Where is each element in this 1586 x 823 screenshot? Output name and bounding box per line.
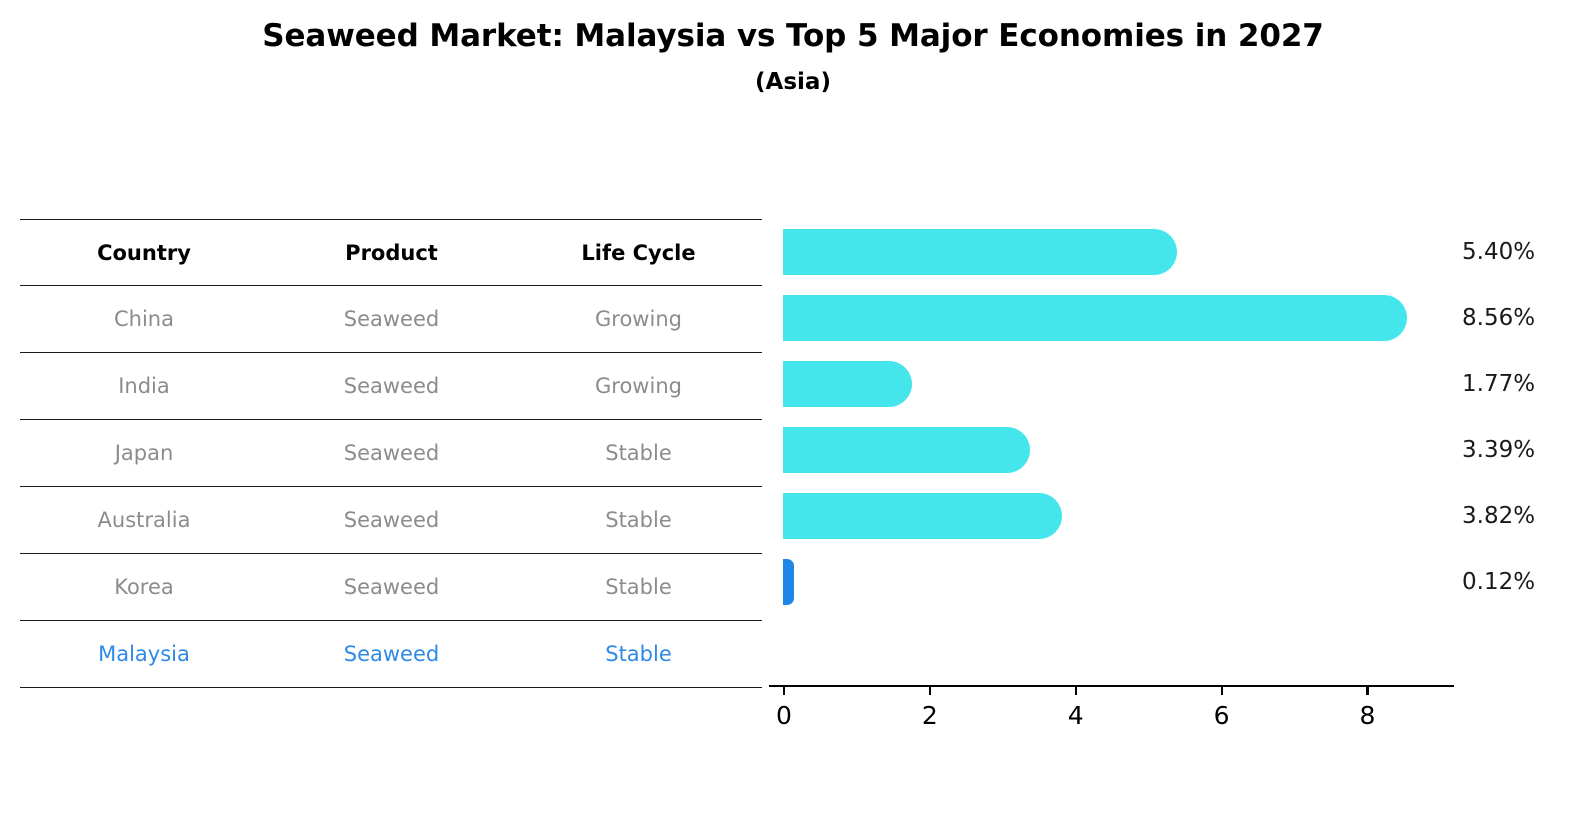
bar[interactable] bbox=[783, 295, 1407, 341]
cell-product: Seaweed bbox=[268, 420, 515, 487]
bar-value-label: 5.40% bbox=[1462, 239, 1535, 265]
table-row[interactable]: India Seaweed Growing bbox=[20, 353, 762, 420]
x-axis-tick-label: 4 bbox=[1068, 701, 1084, 730]
table-row[interactable]: China Seaweed Growing bbox=[20, 286, 762, 353]
bar[interactable] bbox=[783, 229, 1177, 275]
cell-life-cycle: Stable bbox=[515, 487, 762, 554]
bar-row: 1.77% bbox=[783, 351, 1473, 417]
page-subtitle: (Asia) bbox=[0, 62, 1586, 102]
bar[interactable] bbox=[783, 493, 1062, 539]
x-axis-tick-label: 0 bbox=[776, 701, 792, 730]
cell-product: Seaweed bbox=[268, 353, 515, 420]
cell-product: Seaweed bbox=[268, 286, 515, 353]
cell-product: Seaweed bbox=[268, 487, 515, 554]
country-table: Country Product Life Cycle China Seaweed… bbox=[20, 219, 762, 688]
cell-country: Korea bbox=[20, 554, 268, 621]
cell-life-cycle: Stable bbox=[515, 420, 762, 487]
table-row-highlighted[interactable]: Malaysia Seaweed Stable bbox=[20, 621, 762, 688]
bar-highlighted[interactable] bbox=[783, 559, 794, 605]
x-axis-tick-label: 8 bbox=[1360, 701, 1376, 730]
plot-area: 5.40%8.56%1.77%3.39%3.82%0.12%02468 bbox=[783, 219, 1473, 681]
x-axis-tick bbox=[1366, 685, 1368, 695]
bar[interactable] bbox=[783, 361, 912, 407]
cell-product: Seaweed bbox=[268, 621, 515, 688]
bar-row: 5.40% bbox=[783, 219, 1473, 285]
cell-life-cycle: Stable bbox=[515, 554, 762, 621]
table-row[interactable]: Korea Seaweed Stable bbox=[20, 554, 762, 621]
bar-value-label: 1.77% bbox=[1462, 371, 1535, 397]
cell-life-cycle: Growing bbox=[515, 286, 762, 353]
cell-country: Australia bbox=[20, 487, 268, 554]
bar-value-label: 0.12% bbox=[1462, 569, 1535, 595]
x-axis-tick bbox=[1221, 685, 1223, 695]
cell-life-cycle: Growing bbox=[515, 353, 762, 420]
x-axis-line bbox=[783, 685, 1454, 687]
column-header-product: Product bbox=[268, 220, 515, 286]
bar-row: 0.12% bbox=[783, 549, 1473, 615]
cell-life-cycle: Stable bbox=[515, 621, 762, 688]
bar-row: 3.82% bbox=[783, 483, 1473, 549]
cell-country: China bbox=[20, 286, 268, 353]
x-axis-tick bbox=[783, 685, 785, 695]
column-header-life-cycle: Life Cycle bbox=[515, 220, 762, 286]
x-axis-tick bbox=[1075, 685, 1077, 695]
axis-left-stub bbox=[769, 685, 783, 687]
cell-country: Malaysia bbox=[20, 621, 268, 688]
bar-chart: 5.40%8.56%1.77%3.39%3.82%0.12%02468 bbox=[783, 219, 1473, 689]
page-title: Seaweed Market: Malaysia vs Top 5 Major … bbox=[0, 14, 1586, 58]
bar-value-label: 8.56% bbox=[1462, 305, 1535, 331]
table-row[interactable]: Japan Seaweed Stable bbox=[20, 420, 762, 487]
bar[interactable] bbox=[783, 427, 1030, 473]
country-matrix: Country Product Life Cycle China Seaweed… bbox=[20, 219, 762, 688]
bar-value-label: 3.39% bbox=[1462, 437, 1535, 463]
cell-country: Japan bbox=[20, 420, 268, 487]
cell-product: Seaweed bbox=[268, 554, 515, 621]
table-header-row: Country Product Life Cycle bbox=[20, 220, 762, 286]
x-axis-tick-label: 2 bbox=[922, 701, 938, 730]
cell-country: India bbox=[20, 353, 268, 420]
bar-value-label: 3.82% bbox=[1462, 503, 1535, 529]
bar-row: 3.39% bbox=[783, 417, 1473, 483]
chart-header: Seaweed Market: Malaysia vs Top 5 Major … bbox=[0, 14, 1586, 102]
bar-row: 8.56% bbox=[783, 285, 1473, 351]
x-axis-tick-label: 6 bbox=[1214, 701, 1230, 730]
table-body: China Seaweed Growing India Seaweed Grow… bbox=[20, 286, 762, 688]
table-row[interactable]: Australia Seaweed Stable bbox=[20, 487, 762, 554]
x-axis-tick bbox=[929, 685, 931, 695]
column-header-country: Country bbox=[20, 220, 268, 286]
